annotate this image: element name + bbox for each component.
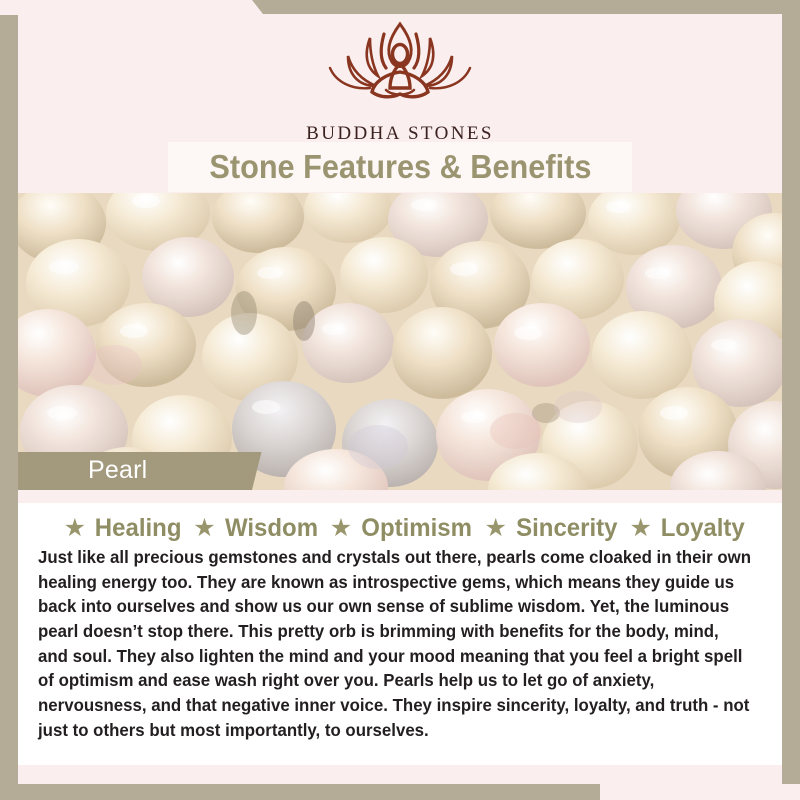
keyword-label: Healing (95, 514, 182, 543)
keyword-label: Loyalty (661, 514, 745, 543)
keyword-sincerity: ★ Sincerity (474, 514, 619, 543)
stone-name: Pearl (88, 456, 147, 485)
star-icon: ★ (330, 516, 352, 541)
benefits-paragraph: Just like all precious gemstones and cry… (38, 546, 753, 744)
poster-root: BUDDHA STONES Stone Features & Benefits (0, 0, 800, 800)
keyword-label: Sincerity (516, 514, 617, 543)
keyword-row: ★ Healing ★ Wisdom ★ Optimism ★ Sincerit… (18, 503, 782, 543)
pearl-pile-photo (18, 193, 782, 490)
brand-logo: BUDDHA STONES (0, 18, 800, 145)
top-left-pink-notch (0, 0, 238, 15)
page-title: Stone Features & Benefits (209, 148, 591, 186)
keyword-loyalty: ★ Loyalty (619, 514, 746, 543)
keyword-optimism: ★ Optimism (320, 514, 475, 543)
keyword-label: Wisdom (225, 514, 318, 543)
keyword-wisdom: ★ Wisdom (183, 514, 319, 543)
star-icon: ★ (193, 516, 215, 541)
benefits-card: ★ Healing ★ Wisdom ★ Optimism ★ Sincerit… (18, 503, 782, 765)
star-icon: ★ (484, 516, 506, 541)
lotus-meditation-figure-icon (0, 18, 800, 121)
star-icon: ★ (64, 516, 86, 541)
keyword-label: Optimism (361, 514, 472, 543)
star-icon: ★ (629, 516, 651, 541)
title-banner: Stone Features & Benefits (168, 142, 632, 192)
bottom-right-pink-strip (600, 784, 800, 800)
keyword-healing: ★ Healing (54, 514, 184, 543)
bottom-left-tan-wedge (0, 784, 600, 800)
